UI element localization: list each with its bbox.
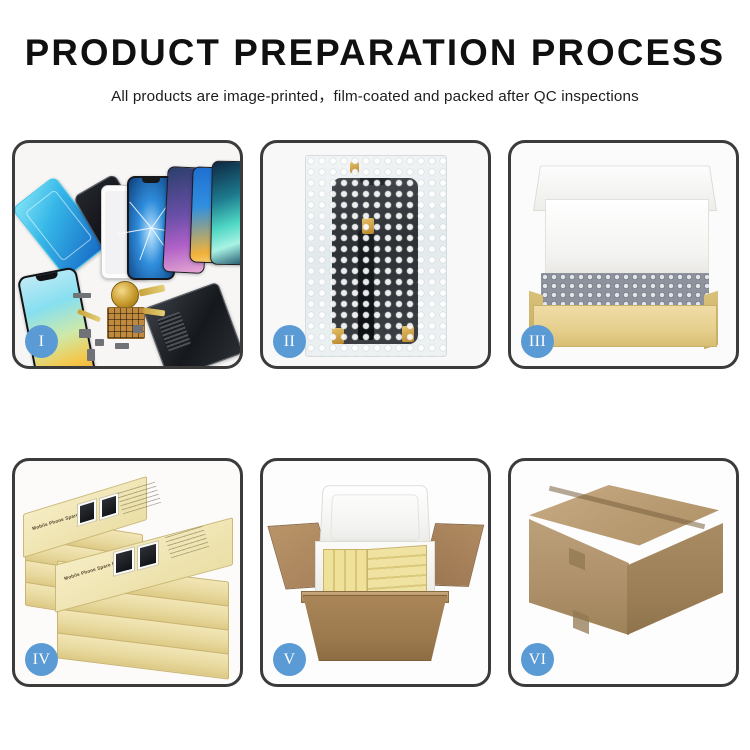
process-step-grid: I II III: [12, 140, 738, 687]
phone-notch: [36, 272, 59, 282]
phone-notch: [142, 178, 160, 183]
process-step-panel-1: I: [12, 140, 243, 369]
foam-sheet: [545, 199, 709, 279]
connector-grid: [107, 307, 145, 339]
page-header: PRODUCT PREPARATION PROCESS All products…: [0, 0, 750, 106]
step-badge-1: I: [25, 325, 58, 358]
small-chip: [115, 343, 129, 349]
speaker-coil: [111, 281, 139, 309]
step-badge-5: V: [273, 643, 306, 676]
bubble-wrap-bag: [305, 155, 447, 357]
process-step-panel-2: II: [260, 140, 491, 369]
step-badge-4: IV: [25, 643, 58, 676]
small-chip: [79, 329, 91, 338]
process-step-panel-6: VI: [508, 458, 739, 687]
step-badge-3: III: [521, 325, 554, 358]
small-chip: [73, 293, 91, 298]
teal-swirl-phone: [210, 161, 240, 266]
small-chip: [87, 349, 95, 361]
step-badge-2: II: [273, 325, 306, 358]
process-step-panel-4: Mobile Phone Spare Parts Mobile Phone Sp…: [12, 458, 243, 687]
phone-motherboard: [142, 282, 240, 366]
crack-line: [139, 228, 152, 260]
page-title: PRODUCT PREPARATION PROCESS: [4, 34, 747, 73]
box-front-wall: [533, 305, 717, 347]
step-badge-6: VI: [521, 643, 554, 676]
flex-cable: [139, 284, 166, 296]
box-stack: Mobile Phone Spare Parts Mobile Phone Sp…: [21, 479, 235, 665]
small-chip: [95, 339, 104, 346]
process-step-panel-5: V: [260, 458, 491, 687]
crack-line: [129, 202, 152, 229]
small-chip: [133, 325, 143, 333]
process-step-panel-3: III: [508, 140, 739, 369]
bubble-texture: [306, 156, 446, 356]
page-subtitle: All products are image-printed，film-coat…: [0, 84, 750, 106]
carton-front-wall: [303, 595, 447, 661]
